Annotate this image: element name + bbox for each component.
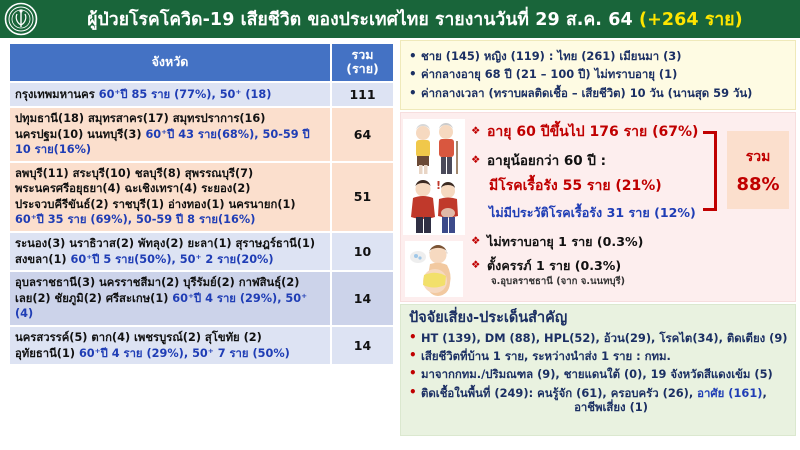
combined-total-label: รวม — [746, 146, 771, 168]
cell-total: 14 — [332, 272, 393, 325]
list-item: HT (139), DM (88), HPL(52), อ้วน(29), โร… — [407, 331, 789, 345]
age-breakdown-content: อายุ 60 ปีขึ้นไป 176 ราย (67%) อายุน้อยก… — [471, 125, 791, 305]
obese-men-illustration-icon: ! — [403, 177, 465, 235]
cell-provinces: ปทุมธานี(18) สมุทรสาคร(17) สมุทรปราการ(1… — [10, 108, 330, 161]
cell-total: 14 — [332, 327, 393, 364]
table-row: กรุงเทพมหานคร 60⁺ปี 85 ราย (77%), 50⁺ (1… — [10, 83, 393, 106]
list-item: ชาย (145) หญิง (119) : ไทย (261) เมียนมา… — [407, 51, 789, 62]
page-title-main: ผู้ป่วยโรคโควิด-19 เสียชีวิต ของประเทศไท… — [87, 10, 633, 30]
thai-moph-emblem-icon — [4, 2, 38, 36]
province-table-body: กรุงเทพมหานคร 60⁺ปี 85 ราย (77%), 50⁺ (1… — [10, 83, 393, 364]
page-header: ผู้ป่วยโรคโควิด-19 เสียชีวิต ของประเทศไท… — [0, 0, 800, 38]
local-infection-prefix: ติดเชื้อในพื้นที่ (249): คนรู้จัก (61), … — [421, 386, 697, 400]
age-stats: 60⁺ปี 5 ราย(50%), 50⁺ 2 ราย(20%) — [71, 253, 274, 266]
cell-provinces: นครสวรรค์(5) ตาก(4) เพชรบูรณ์(2) สุโขทัย… — [10, 327, 330, 364]
cell-provinces: ระนอง(3) นราธิวาส(2) พัทลุง(2) ยะลา(1) ส… — [10, 233, 330, 270]
list-item-local-infection: ติดเชื้อในพื้นที่ (249): คนรู้จัก (61), … — [407, 386, 789, 415]
age-stats: 60⁺ปี 85 ราย (77%), 50⁺ (18) — [99, 88, 272, 101]
demographics-list: ชาย (145) หญิง (119) : ไทย (261) เมียนมา… — [407, 51, 789, 99]
cell-provinces: ลพบุรี(11) สระบุรี(10) ชลบุรี(8) สุพรรณบ… — [10, 163, 330, 231]
page-title: ผู้ป่วยโรคโควิด-19 เสียชีวิต ของประเทศไท… — [38, 5, 800, 33]
column-header-total-line1: รวม — [352, 47, 374, 62]
local-infection-highlight: อาศัย (161) — [697, 386, 762, 400]
cell-total: 10 — [332, 233, 393, 270]
list-item: มาจากกทม./ปริมณฑล (9), ชายแดนใต้ (0), 19… — [407, 367, 789, 381]
risk-factors-list: HT (139), DM (88), HPL(52), อ้วน(29), โร… — [407, 331, 789, 414]
table-row: ปทุมธานี(18) สมุทรสาคร(17) สมุทรปราการ(1… — [10, 108, 393, 161]
combined-total-value: 88% — [736, 174, 779, 195]
age-illustrations: ! — [403, 115, 465, 297]
pregnant-province-note: จ.อุบลราชธานี (จาก จ.นนทบุรี) — [491, 274, 791, 289]
age-stats: 60⁺ปี 35 ราย (69%), 50-59 ปี 8 ราย(16%) — [15, 213, 255, 226]
age-breakdown-box: ! อายุ 60 ปีขึ้นไป 176 ราย (67%) — [400, 112, 796, 302]
age-stats: 60⁺ปี 4 ราย (29%), 50⁺ 7 ราย (50%) — [79, 347, 290, 360]
demographics-summary-box: ชาย (145) หญิง (119) : ไทย (261) เมียนมา… — [400, 40, 796, 110]
svg-text:!: ! — [436, 179, 441, 192]
pregnant-woman-illustration-icon — [405, 241, 463, 297]
list-item: เสียชีวิตที่บ้าน 1 ราย, ระหว่างนำส่ง 1 ร… — [407, 349, 789, 363]
table-row: นครสวรรค์(5) ตาก(4) เพชรบูรณ์(2) สุโขทัย… — [10, 327, 393, 364]
page-title-new-cases: (+264 ราย) — [639, 10, 743, 30]
column-header-total-line2: (ราย) — [346, 61, 378, 76]
combined-total-badge: รวม 88% — [727, 131, 789, 209]
province-death-table: จังหวัด รวม (ราย) กรุงเทพมหานคร 60⁺ปี 85… — [8, 42, 395, 366]
cell-total: 64 — [332, 108, 393, 161]
unknown-age-line: ไม่ทราบอายุ 1 ราย (0.3%) — [471, 235, 791, 249]
table-row: อุบลราชธานี(3) นครราชสีมา(2) บุรีรัมย์(2… — [10, 272, 393, 325]
local-infection-suffix: , — [762, 386, 766, 400]
local-infection-line2: อาชีพเสี่ยง (1) — [421, 400, 789, 414]
cell-provinces: กรุงเทพมหานคร 60⁺ปี 85 ราย (77%), 50⁺ (1… — [10, 83, 330, 106]
province-names: กรุงเทพมหานคร — [15, 88, 99, 101]
cell-total: 111 — [332, 83, 393, 106]
right-column: ชาย (145) หญิง (119) : ไทย (261) เมียนมา… — [400, 40, 796, 436]
table-row: ลพบุรี(11) สระบุรี(10) ชลบุรี(8) สุพรรณบ… — [10, 163, 393, 231]
list-item: ค่ากลางเวลา (ทราบผลติดเชื้อ – เสียชีวิต)… — [407, 88, 789, 99]
table-row: ระนอง(3) นราธิวาส(2) พัทลุง(2) ยะลา(1) ส… — [10, 233, 393, 270]
cell-total: 51 — [332, 163, 393, 231]
risk-factors-title: ปัจจัยเสี่ยง-ประเด็นสำคัญ — [409, 311, 789, 327]
pregnant-line: ตั้งครรภ์ 1 ราย (0.3%) — [471, 259, 791, 273]
elderly-couple-illustration-icon — [403, 119, 465, 177]
infographic-page: ผู้ป่วยโรคโควิด-19 เสียชีวิต ของประเทศไท… — [0, 0, 800, 450]
column-header-total: รวม (ราย) — [332, 44, 393, 81]
province-names: ลพบุรี(11) สระบุรี(10) ชลบุรี(8) สุพรรณบ… — [15, 167, 296, 211]
table-header-row: จังหวัด รวม (ราย) — [10, 44, 393, 81]
cell-provinces: อุบลราชธานี(3) นครราชสีมา(2) บุรีรัมย์(2… — [10, 272, 330, 325]
grouping-bracket — [703, 131, 717, 211]
column-header-province: จังหวัด — [10, 44, 330, 81]
list-item: ค่ากลางอายุ 68 ปี (21 – 100 ปี) ไม่ทราบอ… — [407, 69, 789, 80]
province-table-wrap: จังหวัด รวม (ราย) กรุงเทพมหานคร 60⁺ปี 85… — [8, 42, 393, 366]
risk-factors-box: ปัจจัยเสี่ยง-ประเด็นสำคัญ HT (139), DM (… — [400, 304, 796, 436]
